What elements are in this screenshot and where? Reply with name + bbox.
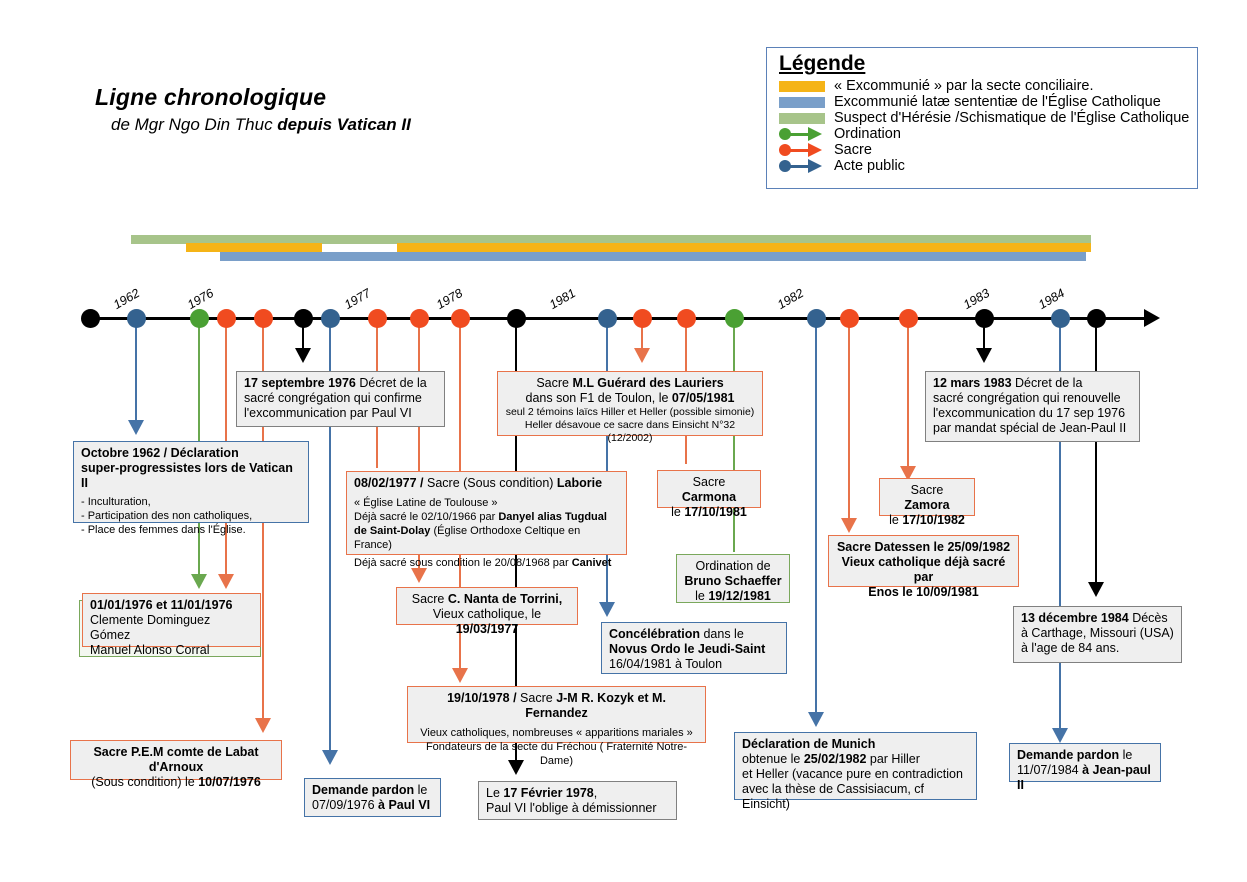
legend-swatch-yellow (779, 81, 825, 92)
legend-label: « Excommunié » par la secte conciliaire. (834, 79, 1094, 94)
timeline-node-orange[interactable] (899, 309, 918, 328)
carmona-pref: Sacre (693, 475, 726, 489)
status-band-blue (220, 252, 1086, 261)
timeline-node-blue[interactable] (598, 309, 617, 328)
event-box-kozyk[interactable]: 19/10/1978 / Sacre J-M R. Kozyk et M. Fe… (407, 686, 706, 743)
munich-date: 25/02/1982 (804, 752, 867, 766)
pardon84-l1b: le (1119, 748, 1132, 762)
pardon84-date: 11/07/1984 (1017, 763, 1082, 777)
laborie-b1: « Église Latine de Toulouse » (354, 496, 619, 510)
laborie-date: 08/02/1977 / (354, 476, 424, 490)
arrow-right-icon (808, 159, 822, 173)
clemente-date: 01/01/1976 et 11/01/1976 (90, 598, 253, 613)
laborie-mid: Sacre (Sous condition) (424, 476, 557, 490)
event-box-bruno-schaeffer[interactable]: Ordination de Bruno Schaeffer le 19/12/1… (676, 554, 790, 603)
labat-date: 10/07/1976 (198, 775, 261, 789)
timeline-node-black[interactable] (975, 309, 994, 328)
arrow-down-icon (218, 574, 234, 589)
timeline-node-orange[interactable] (840, 309, 859, 328)
munich-l1: Déclaration de Munich (742, 737, 969, 752)
page-title: Ligne chronologique (95, 84, 326, 111)
legend-label: Suspect d'Hérésie /Schismatique de l'Égl… (834, 111, 1189, 126)
timeline-node-black[interactable] (1087, 309, 1106, 328)
timeline-node-black[interactable] (507, 309, 526, 328)
laborie-b4b: Canivet (572, 557, 612, 569)
torrini-date: 19/03/1977 (456, 622, 519, 636)
year-label-1981: 1981 (547, 286, 578, 312)
schaeffer-date: 19/12/1981 (708, 589, 771, 603)
demission-l2: Paul VI l'oblige à démissionner (486, 801, 669, 816)
arrow-down-icon (841, 518, 857, 533)
guerard-name: M.L Guérard des Lauriers (572, 376, 723, 390)
legend-item-excommunie-conciliaire: « Excommunié » par la secte conciliaire. (767, 78, 1197, 94)
timeline-node-blue[interactable] (1051, 309, 1070, 328)
torrini-pref: Sacre (412, 592, 448, 606)
vatican2-head2: super-progressistes lors de Vatican II (81, 461, 301, 491)
kozyk-b2: Fondateurs de la secte du Fréchou ( Frat… (415, 740, 698, 768)
arrow-down-icon (322, 750, 338, 765)
deces-date: 13 décembre 1984 (1021, 611, 1129, 625)
status-band-yellow-1 (186, 243, 322, 252)
labat-title: Sacre P.E.M comte de Labat d'Arnoux (78, 745, 274, 775)
schaeffer-name: Bruno Schaeffer (684, 574, 782, 589)
legend-swatch-green (779, 113, 825, 124)
year-label-1984: 1984 (1036, 286, 1067, 312)
decret83-l3: l'excommunication du 17 sep 1976 (933, 406, 1132, 421)
arrow-down-icon (976, 348, 992, 363)
timeline-node-orange[interactable] (217, 309, 236, 328)
event-box-pardon-1984[interactable]: Demande pardon le 11/07/1984 à Jean-paul… (1009, 743, 1161, 782)
timeline-node-orange[interactable] (633, 309, 652, 328)
laborie-b2a: Déjà sacré le 02/10/1966 par (354, 511, 498, 523)
kozyk-b1: Vieux catholiques, nombreuses « appariti… (415, 726, 698, 740)
vatican2-head1: Octobre 1962 / Déclaration (81, 446, 301, 461)
legend-item-excommunie-latae: Excommunié latæ sententiæ de l'Église Ca… (767, 94, 1197, 110)
legend-label: Acte public (834, 159, 905, 174)
guerard-pref: Sacre (536, 376, 572, 390)
legend-title: Légende (767, 48, 1197, 78)
arrow-down-icon (411, 568, 427, 583)
datessen-l1: Sacre Datessen le 25/09/1982 (836, 540, 1011, 555)
connector-line (135, 322, 137, 422)
legend-label: Excommunié latæ sententiæ de l'Église Ca… (834, 95, 1161, 110)
timeline-node-green[interactable] (725, 309, 744, 328)
demission-date: 17 Février 1978 (503, 786, 593, 800)
arrow-down-icon (1052, 728, 1068, 743)
event-box-guerard-des-lauriers[interactable]: Sacre M.L Guérard des Lauriers dans son … (497, 371, 763, 436)
timeline-node-green[interactable] (190, 309, 209, 328)
vatican2-bullet-3: - Place des femmes dans l'Église. (81, 523, 301, 537)
demission-l1c: , (594, 786, 597, 800)
laborie-b3a: de Saint-Dolay (354, 525, 430, 537)
legend-label: Ordination (834, 127, 901, 142)
timeline-arrow-icon (1144, 309, 1160, 327)
schaeffer-le: le (695, 589, 708, 603)
timeline-node-blue[interactable] (807, 309, 826, 328)
munich-l4: avec la thèse de Cassisiacum, cf Einsich… (742, 782, 969, 812)
legend-label: Sacre (834, 143, 872, 158)
guerard-date: 07/05/1981 (672, 391, 735, 405)
zamora-pref: Sacre (911, 483, 944, 497)
deces-l2: à Carthage, Missouri (USA) (1021, 626, 1174, 641)
event-box-deces-1984[interactable]: 13 décembre 1984 Décès à Carthage, Misso… (1013, 606, 1182, 663)
pardon76-l1a: Demande pardon (312, 783, 414, 797)
decret1976-date: 17 septembre 1976 (244, 376, 356, 390)
event-box-carmona[interactable]: Sacre Carmona le 17/10/1981 (657, 470, 761, 508)
timeline-node-black[interactable] (294, 309, 313, 328)
year-label-1983: 1983 (961, 286, 992, 312)
guerard-loc: dans son F1 de Toulon, le (526, 391, 672, 405)
year-label-1982: 1982 (775, 286, 806, 312)
timeline-node-black[interactable] (81, 309, 100, 328)
schaeffer-l1: Ordination de (684, 559, 782, 574)
munich-l2c: par Hiller (866, 752, 920, 766)
event-box-vatican-ii[interactable]: Octobre 1962 / Déclaration super-progres… (73, 441, 309, 523)
pardon84-l1a: Demande pardon (1017, 748, 1119, 762)
arrow-right-icon (808, 127, 822, 141)
subtitle-normal: de Mgr Ngo Din Thuc (111, 115, 277, 134)
carmona-name: Carmona (682, 490, 736, 504)
timeline-node-orange[interactable] (410, 309, 429, 328)
guerard-note-1: seul 2 témoins laïcs Hiller et Heller (p… (505, 406, 755, 419)
arrow-down-icon (128, 420, 144, 435)
legend-item-suspect-heresie: Suspect d'Hérésie /Schismatique de l'Égl… (767, 110, 1197, 126)
arrow-down-icon (1088, 582, 1104, 597)
timeline-node-orange[interactable] (677, 309, 696, 328)
concel-l1a: Concélébration (609, 627, 700, 641)
event-box-zamora[interactable]: Sacre Zamora le 17/10/1982 (879, 478, 975, 516)
status-band-yellow-2 (397, 243, 1091, 252)
timeline-node-orange[interactable] (451, 309, 470, 328)
carmona-date: 17/10/1981 (684, 505, 747, 519)
datessen-l3: Enos le 10/09/1981 (836, 585, 1011, 600)
arrow-down-icon (808, 712, 824, 727)
legend-marker-blue (779, 159, 825, 173)
timeline-node-orange[interactable] (254, 309, 273, 328)
legend-marker-green (779, 127, 825, 141)
torrini-name: C. Nanta de Torrini, (448, 592, 562, 606)
decret83-l1b: Décret de la (1012, 376, 1083, 390)
pardon76-date: 07/09/1976 (312, 798, 378, 812)
event-box-labat-arnoux[interactable]: Sacre P.E.M comte de Labat d'Arnoux (Sou… (70, 740, 282, 780)
timeline-node-blue[interactable] (321, 309, 340, 328)
event-box-demission-1978[interactable]: Le 17 Février 1978, Paul VI l'oblige à d… (478, 781, 677, 820)
clemente-name-1: Clemente Dominguez Gómez (90, 613, 253, 643)
concel-l3: 16/04/1981 à Toulon (609, 657, 779, 672)
decret83-l4: par mandat spécial de Jean-Paul II (933, 421, 1132, 436)
event-box-clemente[interactable]: 01/01/1976 et 11/01/1976 Clemente Doming… (82, 593, 261, 647)
arrow-down-icon (191, 574, 207, 589)
event-box-declaration-munich[interactable]: Déclaration de Munich obtenue le 25/02/1… (734, 732, 977, 800)
labat-cond: (Sous condition) le (91, 775, 198, 789)
pardon76-who: à Paul VI (378, 798, 430, 812)
arrow-down-icon (255, 718, 271, 733)
event-box-decret-1976[interactable]: 17 septembre 1976 Décret de la sacré con… (236, 371, 445, 427)
vatican2-bullet-1: - Inculturation, (81, 495, 301, 509)
decret1976-text: Décret de la (356, 376, 427, 390)
guerard-note-2: Heller désavoue ce sacre dans Einsicht N… (505, 419, 755, 445)
connector-line (848, 322, 850, 522)
connector-line (1095, 322, 1097, 584)
event-box-datessen[interactable]: Sacre Datessen le 25/09/1982 Vieux catho… (828, 535, 1019, 587)
zamora-name: Zamora (904, 498, 949, 512)
munich-l3: et Heller (vacance pure en contradiction (742, 767, 969, 782)
timeline-node-blue[interactable] (127, 309, 146, 328)
demission-l1a: Le (486, 786, 503, 800)
decret1976-line3: l'excommunication par Paul VI (244, 406, 437, 421)
event-box-decret-1983[interactable]: 12 mars 1983 Décret de la sacré congréga… (925, 371, 1140, 442)
legend-item-ordination: Ordination (767, 126, 1197, 142)
pardon76-l1b: le (414, 783, 427, 797)
deces-l1b: Décès (1129, 611, 1168, 625)
event-box-pardon-1976[interactable]: Demande pardon le 07/09/1976 à Paul VI (304, 778, 441, 817)
carmona-le: le (671, 505, 684, 519)
legend-panel: Légende « Excommunié » par la secte conc… (766, 47, 1198, 189)
laborie-name: Laborie (557, 476, 602, 490)
legend-item-acte-public: Acte public (767, 158, 1197, 174)
timeline-node-orange[interactable] (368, 309, 387, 328)
subtitle-bold: depuis Vatican II (277, 115, 411, 134)
legend-marker-orange (779, 143, 825, 157)
clemente-name-2: Manuel Alonso Corral (90, 643, 253, 658)
arrow-right-icon (808, 143, 822, 157)
year-label-1977: 1977 (342, 286, 373, 312)
arrow-down-icon (599, 602, 615, 617)
zamora-le: le (889, 513, 902, 527)
page-subtitle: de Mgr Ngo Din Thuc depuis Vatican II (111, 115, 411, 135)
zamora-date: 17/10/1982 (902, 513, 965, 527)
laborie-b2b: Danyel alias Tugdual (498, 511, 607, 523)
decret1976-line2: sacré congrégation qui confirme (244, 391, 437, 406)
arrow-down-icon (295, 348, 311, 363)
vatican2-bullet-2: - Participation des non catholiques, (81, 509, 301, 523)
torrini-desc: Vieux catholique, le (433, 607, 541, 621)
arrow-down-icon (634, 348, 650, 363)
kozyk-date: 19/10/1978 / (447, 691, 517, 705)
kozyk-mid: Sacre (517, 691, 557, 705)
legend-swatch-blue (779, 97, 825, 108)
event-box-laborie[interactable]: 08/02/1977 / Sacre (Sous condition) Labo… (346, 471, 627, 555)
concel-l2: Novus Ordo le Jeudi-Saint (609, 642, 779, 657)
connector-line (907, 322, 909, 468)
event-box-torrini[interactable]: Sacre C. Nanta de Torrini, Vieux catholi… (396, 587, 578, 625)
connector-line (815, 322, 817, 714)
datessen-l2: Vieux catholique déjà sacré par (836, 555, 1011, 585)
arrow-down-icon (452, 668, 468, 683)
munich-l2a: obtenue le (742, 752, 804, 766)
deces-l3: à l'age de 84 ans. (1021, 641, 1174, 656)
laborie-b4a: Déjà sacré sous condition le 20/08/1968 … (354, 557, 572, 569)
legend-item-sacre: Sacre (767, 142, 1197, 158)
decret83-date: 12 mars 1983 (933, 376, 1012, 390)
concel-l1b: dans le (700, 627, 744, 641)
event-box-concelebration[interactable]: Concélébration dans le Novus Ordo le Jeu… (601, 622, 787, 674)
decret83-l2: sacré congrégation qui renouvelle (933, 391, 1132, 406)
